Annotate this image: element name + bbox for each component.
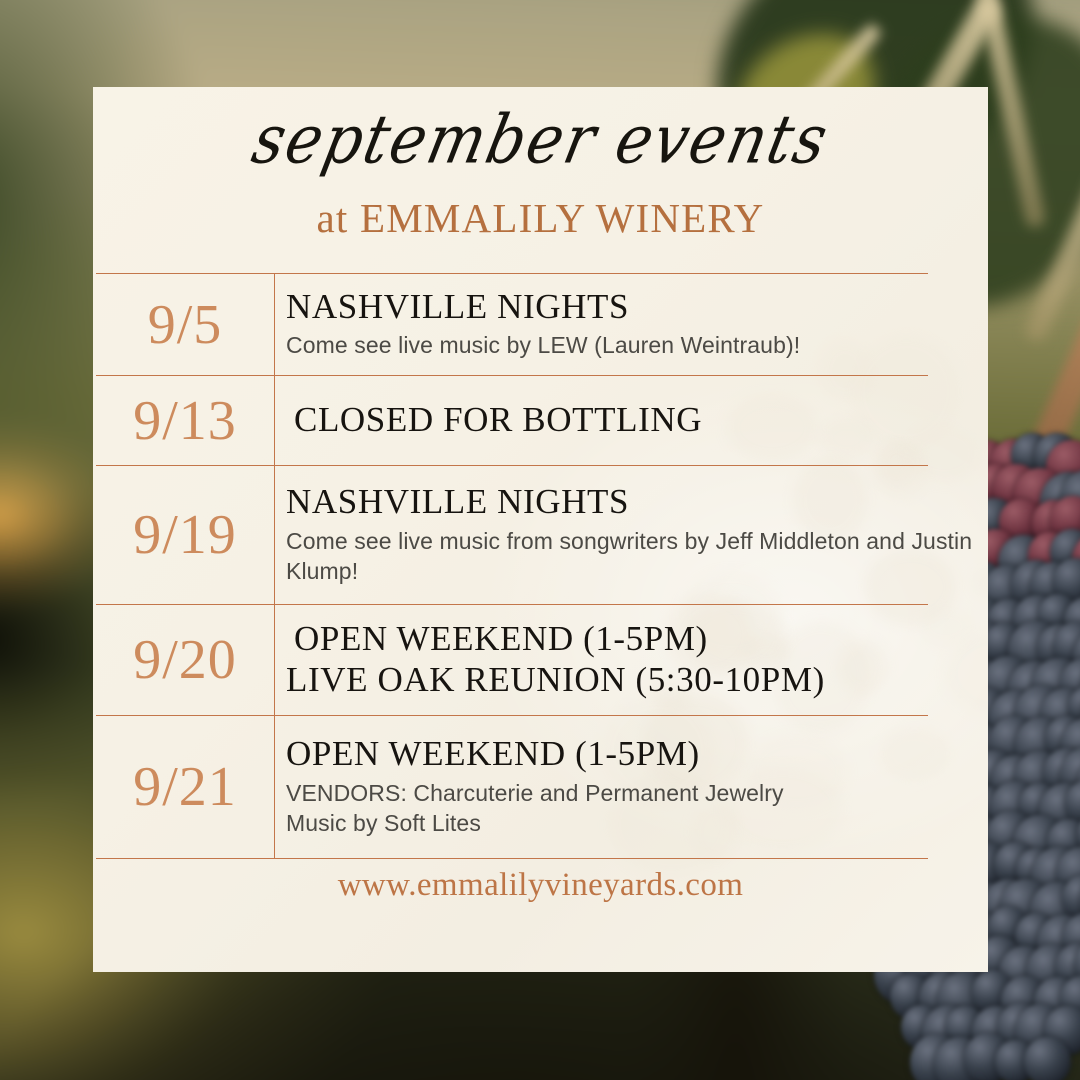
row-date-cell: 9/20 xyxy=(96,605,275,715)
event-title: NASHVILLE NIGHTS xyxy=(286,286,985,327)
row-date-cell: 9/19 xyxy=(96,466,275,604)
subtitle-lede: at xyxy=(317,195,360,241)
table-row[interactable]: 9/20 OPEN WEEKEND (1-5PM) LIVE OAK REUNI… xyxy=(96,605,985,715)
event-title: OPEN WEEKEND (1-5PM) xyxy=(286,733,985,774)
event-date: 9/21 xyxy=(133,759,237,815)
row-info-cell: NASHVILLE NIGHTS Come see live music by … xyxy=(275,274,985,375)
table-row[interactable]: 9/21 OPEN WEEKEND (1-5PM) VENDORS: Charc… xyxy=(96,716,985,858)
row-date-cell: 9/21 xyxy=(96,716,275,858)
event-date: 9/19 xyxy=(133,507,237,563)
event-description: Come see live music from songwriters by … xyxy=(286,527,985,587)
row-info-cell: OPEN WEEKEND (1-5PM) VENDORS: Charcuteri… xyxy=(275,716,985,858)
poster: september events at EMMALILY WINERY 9/5 … xyxy=(0,0,1080,1080)
event-title-secondary: LIVE OAK REUNION (5:30-10PM) xyxy=(286,659,985,700)
row-info-cell: CLOSED FOR BOTTLING xyxy=(275,376,985,465)
subtitle-brand: EMMALILY WINERY xyxy=(360,195,765,241)
event-card: september events at EMMALILY WINERY 9/5 … xyxy=(93,87,988,972)
row-date-cell: 9/13 xyxy=(96,376,275,465)
event-title: OPEN WEEKEND (1-5PM) xyxy=(286,618,985,659)
row-date-cell: 9/5 xyxy=(96,274,275,375)
event-description: Come see live music by LEW (Lauren Weint… xyxy=(286,331,985,361)
card-header: september events at EMMALILY WINERY xyxy=(93,109,988,242)
event-date: 9/20 xyxy=(133,632,237,688)
table-row[interactable]: 9/13 CLOSED FOR BOTTLING xyxy=(96,376,985,465)
row-info-cell: NASHVILLE NIGHTS Come see live music fro… xyxy=(275,466,985,604)
page-subtitle: at EMMALILY WINERY xyxy=(93,194,988,242)
event-title: NASHVILLE NIGHTS xyxy=(286,481,985,522)
table-row[interactable]: 9/19 NASHVILLE NIGHTS Come see live musi… xyxy=(96,466,985,604)
website-url[interactable]: www.emmalilyvineyards.com xyxy=(338,867,744,903)
event-description-secondary: Music by Soft Lites xyxy=(286,809,985,839)
event-description: VENDORS: Charcuterie and Permanent Jewel… xyxy=(286,779,985,809)
card-footer: www.emmalilyvineyards.com xyxy=(93,867,988,904)
page-title-script: september events xyxy=(246,105,834,176)
row-info-cell: OPEN WEEKEND (1-5PM) LIVE OAK REUNION (5… xyxy=(275,605,985,715)
event-date: 9/5 xyxy=(148,297,223,353)
event-title: CLOSED FOR BOTTLING xyxy=(286,399,985,440)
table-divider xyxy=(96,858,928,859)
event-date: 9/13 xyxy=(133,393,237,449)
table-row[interactable]: 9/5 NASHVILLE NIGHTS Come see live music… xyxy=(96,274,985,375)
schedule-table: 9/5 NASHVILLE NIGHTS Come see live music… xyxy=(96,273,985,859)
